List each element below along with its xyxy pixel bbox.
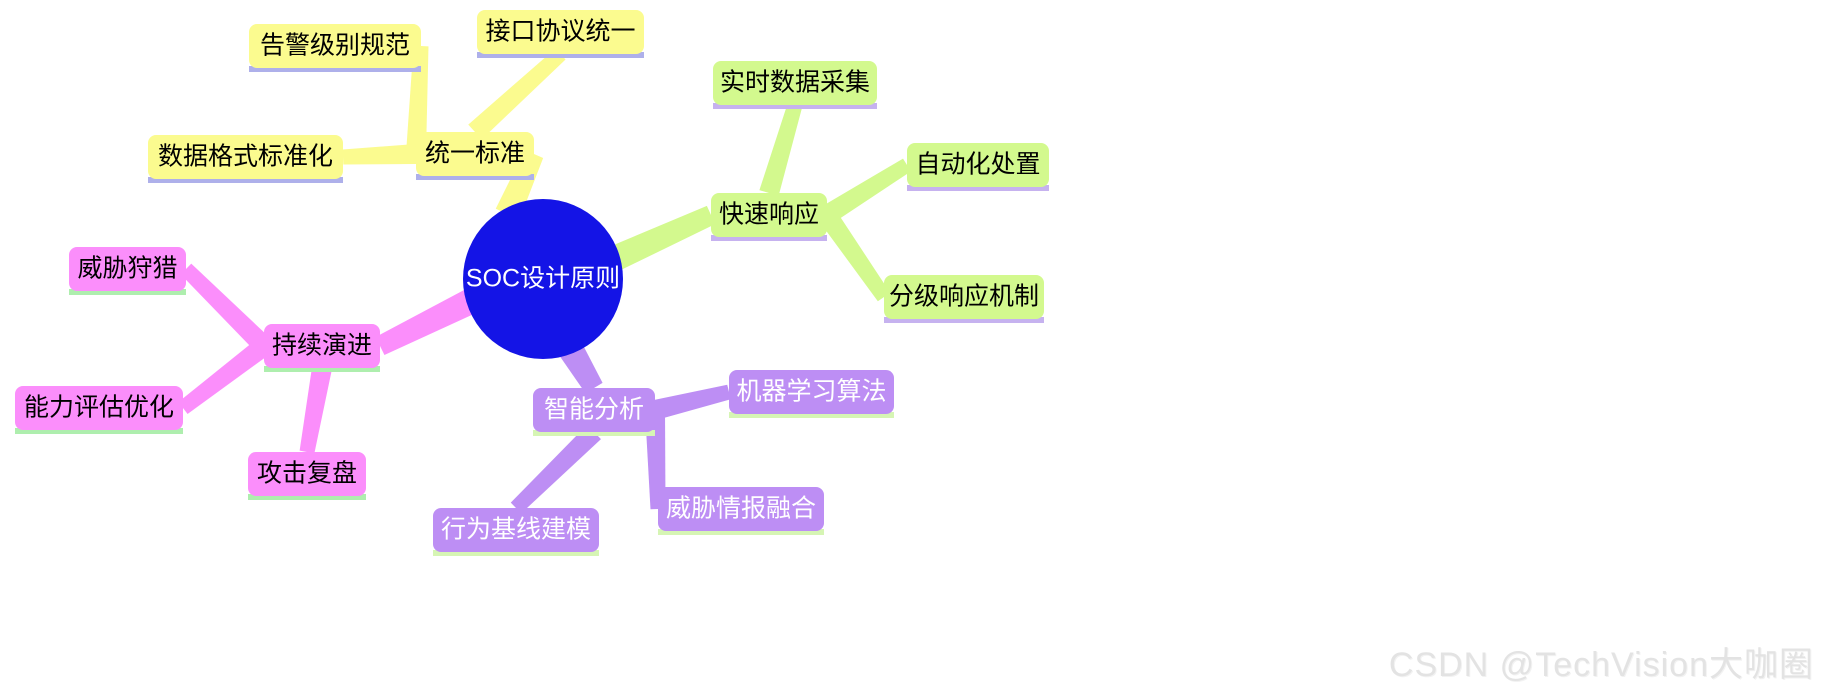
leaf-realtime-data-collection[interactable]: 实时数据采集 [713, 61, 877, 109]
leaf-data-format-standardize[interactable]: 数据格式标准化 [148, 135, 343, 183]
leaf-machine-learning-algorithm[interactable]: 机器学习算法 [729, 370, 894, 418]
leaf-attack-review[interactable]: 攻击复盘 [248, 452, 366, 500]
leaf-threat-hunting[interactable]: 威胁狩猎 [69, 247, 186, 295]
leaf-alert-level-spec-label: 告警级别规范 [260, 32, 410, 60]
leaf-automated-disposal[interactable]: 自动化处置 [907, 143, 1049, 191]
leaf-interface-protocol-unify[interactable]: 接口协议统一 [477, 10, 644, 58]
connector-branch-intelligent-analysis-to-leaf-behavior-baseline-modeling [511, 425, 601, 514]
leaf-realtime-data-collection-label: 实时数据采集 [720, 69, 870, 97]
root-node-label: SOC设计原则 [466, 265, 620, 293]
branch-continuous-evolution[interactable]: 持续演进 [264, 324, 380, 372]
connector-branch-continuous-evolution-to-leaf-capability-assessment-optimization [178, 338, 270, 414]
branch-intelligent-analysis[interactable]: 智能分析 [533, 388, 655, 436]
mindmap-diagram: 告警级别规范接口协议统一数据格式标准化统一标准实时数据采集自动化处置分级响应机制… [0, 0, 1832, 700]
leaf-interface-protocol-unify-label: 接口协议统一 [485, 18, 635, 46]
leaf-tiered-response-mechanism[interactable]: 分级响应机制 [884, 275, 1044, 323]
leaf-machine-learning-algorithm-label: 机器学习算法 [736, 378, 886, 406]
leaf-threat-hunting-label: 威胁狩猎 [77, 255, 177, 283]
leaf-behavior-baseline-modeling[interactable]: 行为基线建模 [433, 508, 599, 556]
connector-branch-unified-standard-to-leaf-data-format-standardize [343, 144, 417, 164]
mindmap-canvas: 告警级别规范接口协议统一数据格式标准化统一标准实时数据采集自动化处置分级响应机制… [0, 0, 1832, 700]
leaf-automated-disposal-label: 自动化处置 [915, 151, 1040, 179]
connector-branch-rapid-response-to-leaf-realtime-data-collection [759, 103, 802, 196]
leaf-threat-intel-fusion-label: 威胁情报融合 [666, 495, 816, 523]
connector-branch-unified-standard-to-leaf-interface-protocol-unify [468, 48, 565, 139]
branch-unified-standard-label: 统一标准 [425, 140, 525, 168]
leaf-data-format-standardize-label: 数据格式标准化 [158, 143, 333, 171]
connector-branch-continuous-evolution-to-leaf-attack-review [300, 366, 332, 453]
leaf-capability-assessment-optimization-label: 能力评估优化 [24, 394, 174, 422]
branch-intelligent-analysis-label: 智能分析 [544, 396, 644, 424]
leaf-threat-intel-fusion[interactable]: 威胁情报融合 [658, 487, 824, 535]
connector-root-to-branch-continuous-evolution [376, 289, 478, 355]
watermark: CSDN @TechVision大咖圈 [1389, 637, 1814, 686]
branch-rapid-response[interactable]: 快速响应 [711, 193, 827, 241]
leaf-tiered-response-mechanism-label: 分级响应机制 [889, 283, 1039, 311]
branch-continuous-evolution-label: 持续演进 [272, 332, 372, 360]
branch-rapid-response-label: 快速响应 [719, 201, 819, 229]
connector-branch-rapid-response-to-leaf-tiered-response-mechanism [819, 209, 890, 301]
leaf-behavior-baseline-modeling-label: 行为基线建模 [441, 516, 591, 544]
leaf-attack-review-label: 攻击复盘 [257, 460, 357, 488]
leaf-alert-level-spec[interactable]: 告警级别规范 [249, 24, 421, 72]
leaf-capability-assessment-optimization[interactable]: 能力评估优化 [15, 386, 183, 434]
root-node-group[interactable]: SOC设计原则 [463, 199, 623, 359]
connector-root-to-branch-rapid-response [609, 206, 715, 271]
branch-unified-standard[interactable]: 统一标准 [416, 132, 534, 180]
